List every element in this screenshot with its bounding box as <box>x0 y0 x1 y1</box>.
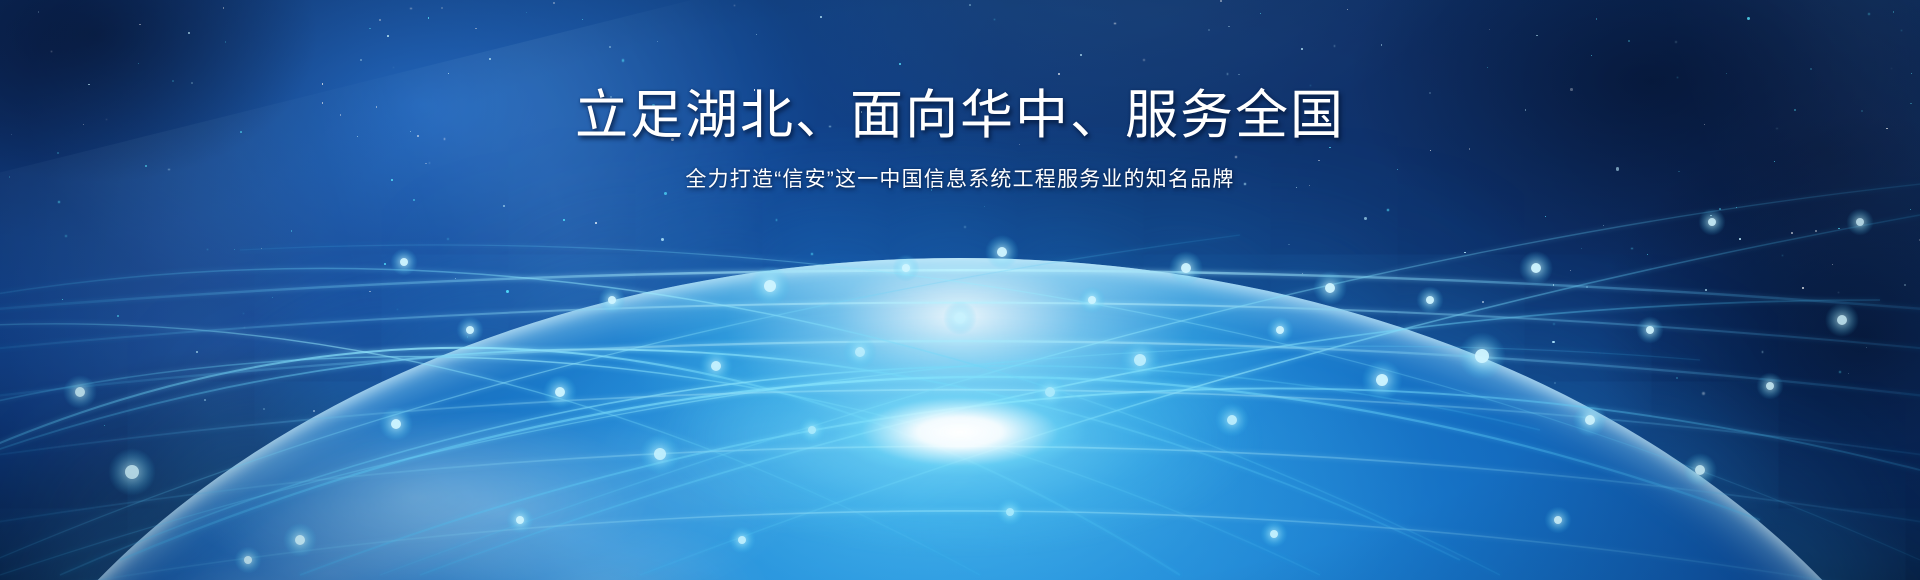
page-title: 立足湖北、面向华中、服务全国 <box>0 88 1920 144</box>
page-subtitle: 全力打造“信安”这一中国信息系统工程服务业的知名品牌 <box>0 166 1920 193</box>
hero-copy: 立足湖北、面向华中、服务全国 全力打造“信安”这一中国信息系统工程服务业的知名品… <box>0 88 1920 193</box>
hero-banner: 立足湖北、面向华中、服务全国 全力打造“信安”这一中国信息系统工程服务业的知名品… <box>0 0 1920 580</box>
